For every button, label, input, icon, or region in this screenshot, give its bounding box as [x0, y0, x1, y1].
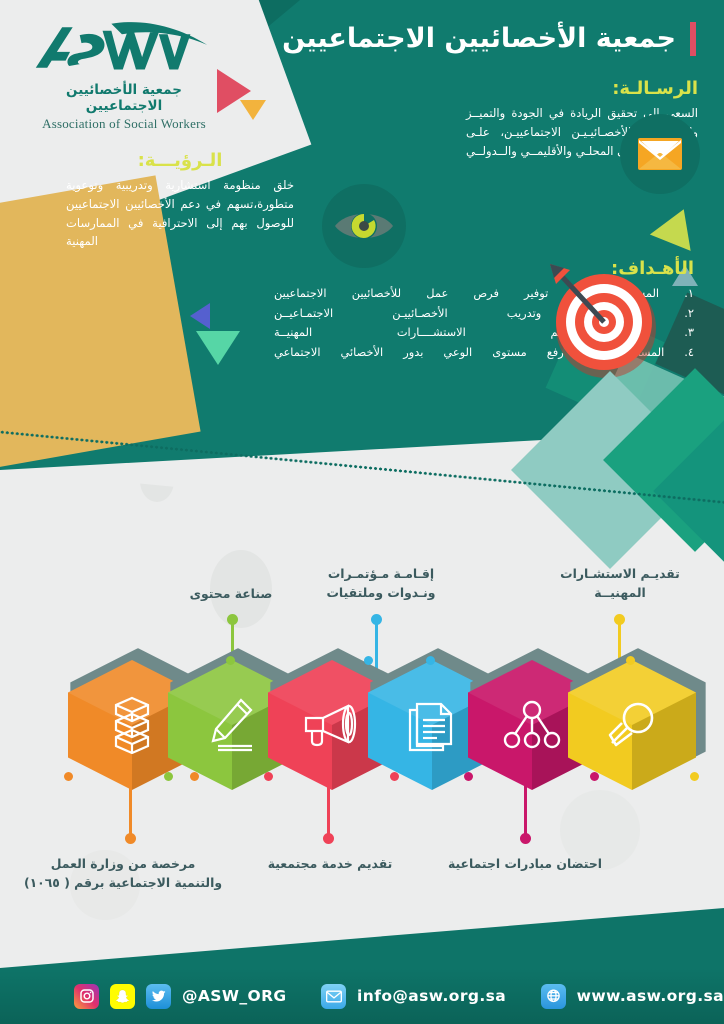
email-icon[interactable] [321, 984, 346, 1009]
service-label-documents: إقـامـة مـؤتمـرات ونـدوات وملتقيات [306, 565, 456, 602]
documents-glyph [407, 698, 457, 752]
social-handle[interactable]: @ASW_ORG [182, 987, 287, 1005]
vision-heading: الـرؤيـــة: [66, 150, 294, 171]
snapchat-icon[interactable] [110, 984, 135, 1009]
ghost-shape [140, 460, 174, 502]
hex-nub [64, 772, 73, 781]
envelope-glyph [637, 136, 683, 172]
pencil-glyph [206, 697, 258, 753]
snapchat-glyph [114, 988, 131, 1005]
blue-triangle-shape [190, 303, 210, 329]
website-url[interactable]: www.asw.org.sa [577, 987, 724, 1005]
network-glyph [503, 700, 561, 750]
target-glyph [548, 262, 668, 382]
connector-dot [323, 833, 334, 844]
label-line: المهنيــة [540, 584, 700, 603]
vision-block: الـرؤيـــة: خلق منظومة استشارية وتدريبية… [66, 150, 294, 251]
hex-nub [426, 656, 435, 665]
hex-nub [690, 772, 699, 781]
email-glyph [326, 990, 342, 1003]
globe-icon[interactable] [541, 984, 566, 1009]
target-icon [548, 262, 654, 368]
logo: جمعية الأخصائيين الاجتماعيين Association… [26, 22, 222, 132]
connector-dot [371, 614, 382, 625]
search-icon [568, 660, 696, 790]
hex-nub [364, 656, 373, 665]
hex-nub [264, 772, 273, 781]
globe-glyph [545, 988, 562, 1005]
hexagon-strip [0, 660, 724, 790]
twitter-glyph [151, 988, 167, 1004]
hex-nub [626, 656, 635, 665]
hex-nub [464, 772, 473, 781]
hex-nub [164, 772, 173, 781]
megaphone-glyph [303, 703, 361, 747]
service-label-search: تقديـم الاستشـارات المهنيــة [540, 565, 700, 602]
page-title: جمعية الأخصائيين الاجتماعيين [282, 22, 696, 56]
service-label-license: مرخصة من وزارة العمل والتنمية الاجتماعية… [18, 855, 228, 892]
label-line: تقديم خدمة مجتمعية [240, 855, 420, 874]
hex-nub [226, 656, 235, 665]
connector-dot [520, 833, 531, 844]
service-hex-search[interactable] [568, 660, 696, 790]
instagram-icon[interactable] [74, 984, 99, 1009]
label-line: صناعة محتوى [146, 585, 316, 604]
mint-triangle-shape [196, 331, 240, 365]
mission-heading: الرسـالـة: [466, 78, 698, 99]
magnifier-glyph [606, 699, 658, 751]
label-line: إقـامـة مـؤتمـرات [306, 565, 456, 584]
logo-name-english: Association of Social Workers [26, 116, 222, 132]
connector-dot [125, 833, 136, 844]
eye-icon [322, 184, 406, 268]
service-label-community: تقديم خدمة مجتمعية [240, 855, 420, 874]
vision-body: خلق منظومة استشارية وتدريبية وتوعوية متط… [66, 176, 294, 251]
service-label-initiatives: احتضان مبادرات اجتماعية [430, 855, 620, 874]
connector-dot [227, 614, 238, 625]
eye-glyph [333, 206, 395, 246]
footer: @ASW_ORG info@asw.org.sa www.asw.org.sa [0, 968, 724, 1024]
label-line: ونـدوات وملتقيات [306, 584, 456, 603]
blocks-glyph [110, 696, 154, 754]
asw-logo-mark [27, 22, 220, 80]
service-label-pencil: صناعة محتوى [146, 585, 316, 604]
envelope-icon [620, 114, 700, 194]
email-address[interactable]: info@asw.org.sa [357, 987, 506, 1005]
connector-dot [614, 614, 625, 625]
label-line: احتضان مبادرات اجتماعية [430, 855, 620, 874]
lime-triangle-shape [650, 201, 704, 251]
instagram-glyph [79, 988, 95, 1004]
twitter-icon[interactable] [146, 984, 171, 1009]
label-line: تقديـم الاستشـارات [540, 565, 700, 584]
label-line: مرخصة من وزارة العمل [18, 855, 228, 874]
logo-name-arabic: جمعية الأخصائيين الاجتماعيين [26, 82, 222, 114]
label-line: والتنمية الاجتماعية برقم ( ١٠٦٥) [18, 874, 228, 893]
infographic-poster: جمعية الأخصائيين الاجتماعيين Association… [0, 0, 724, 1024]
gold-triangle-shape [240, 100, 266, 120]
